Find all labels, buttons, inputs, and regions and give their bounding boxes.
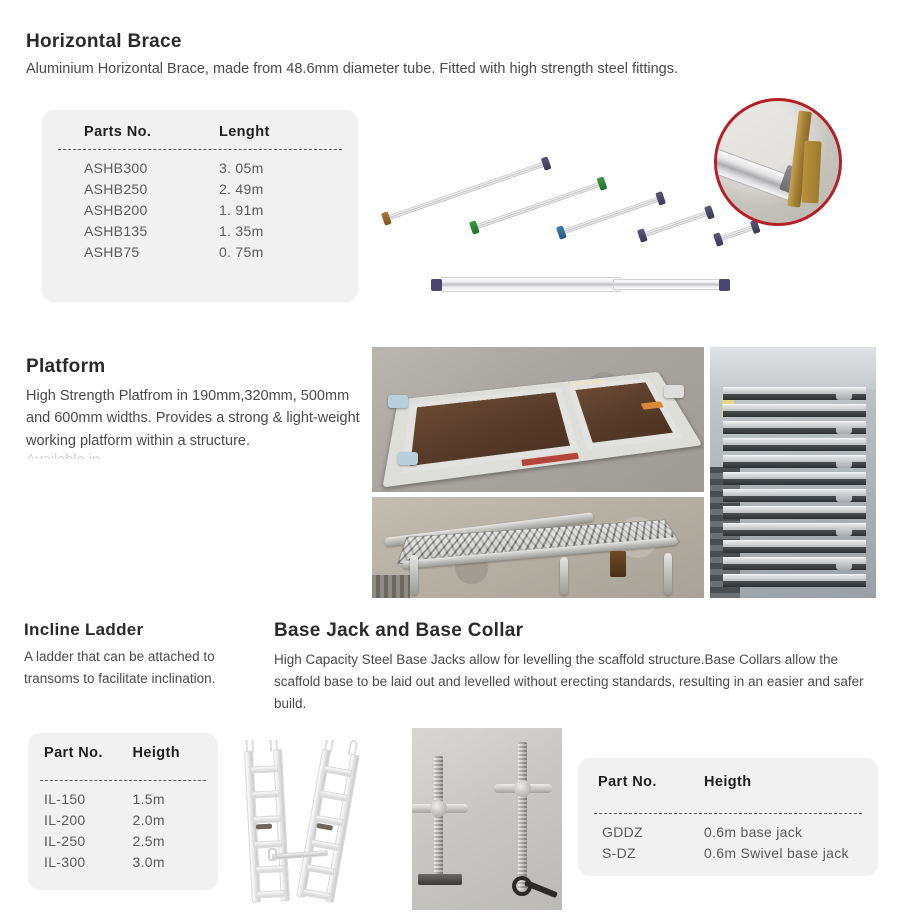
horizontal-brace-table: Parts No. Lenght ASHB300 3. 05m ASHB250 … — [42, 110, 358, 262]
cell-length: 3. 05m — [219, 157, 358, 178]
stacked-platforms-warehouse-photo — [710, 347, 876, 598]
incline-ladder-section: Incline Ladder A ladder that can be atta… — [24, 620, 266, 690]
brace-end-cap — [719, 279, 730, 291]
base-jack-collar — [514, 780, 531, 797]
base-jack-section: Base Jack and Base Collar High Capacity … — [274, 620, 874, 715]
table-divider-row — [578, 794, 878, 821]
cell-height: 2.5m — [133, 830, 219, 851]
platform-hook — [836, 491, 852, 502]
table-row: ASHB200 1. 91m — [42, 199, 358, 220]
dashed-divider — [40, 780, 206, 781]
cell-part-no: IL-200 — [28, 809, 133, 830]
platform-hook — [398, 452, 418, 465]
table-row: ASHB250 2. 49m — [42, 178, 358, 199]
ladder-straight — [242, 749, 292, 903]
brace-end-cap — [597, 176, 608, 191]
base-jack-plate — [418, 874, 462, 885]
plank-leg — [664, 553, 672, 595]
platform-clipped-text: Available in — [26, 452, 366, 459]
column-header-part-no: Part No. — [28, 733, 133, 765]
cell-part-no: ASHB75 — [42, 241, 219, 262]
warehouse-ceiling — [710, 347, 876, 389]
ladder-clamp — [256, 824, 272, 830]
cell-part-no: GDDZ — [578, 821, 704, 842]
horizontal-brace-table-panel: Parts No. Lenght ASHB300 3. 05m ASHB250 … — [42, 110, 358, 302]
aluminium-platform-photo — [372, 347, 704, 492]
cell-part-no: IL-250 — [28, 830, 133, 851]
cell-part-no: S-DZ — [578, 842, 704, 863]
platform-hook — [836, 423, 852, 434]
platform-body: High Strength Platfrom in 190mm,320mm, 5… — [26, 385, 366, 452]
table-header-row: Parts No. Lenght — [42, 110, 358, 144]
plank-leg — [410, 555, 418, 595]
catalog-page: Horizontal Brace Aluminium Horizontal Br… — [0, 0, 921, 917]
ground-grate — [372, 575, 410, 598]
platform-hook — [388, 395, 408, 408]
platform-hook — [664, 385, 684, 398]
brace-tube-2490 — [474, 181, 601, 225]
table-row: IL-300 3.0m — [28, 851, 218, 872]
cell-part-no: ASHB300 — [42, 157, 219, 178]
cell-part-no: ASHB250 — [42, 178, 219, 199]
incline-ladder-table: Part No. Heigth IL-150 1.5m IL-200 2.0m … — [28, 733, 218, 872]
platform-hook — [836, 559, 852, 570]
cell-height: 3.0m — [133, 851, 219, 872]
cell-part-no: ASHB135 — [42, 220, 219, 241]
telescoping-brace-tube — [431, 277, 731, 295]
table-row: ASHB135 1. 35m — [42, 220, 358, 241]
table-divider-row — [42, 144, 358, 157]
table-row: S-DZ 0.6m Swivel base jack — [578, 842, 878, 863]
brace-tube-1910 — [561, 196, 659, 230]
table-row: ASHB300 3. 05m — [42, 157, 358, 178]
table-row: IL-250 2.5m — [28, 830, 218, 851]
base-jack-body: High Capacity Steel Base Jacks allow for… — [274, 649, 874, 715]
cell-length: 1. 35m — [219, 220, 358, 241]
cell-part-no: IL-300 — [28, 851, 133, 872]
brace-tubes-illustration — [378, 96, 878, 308]
ladder-support-hook — [268, 848, 277, 861]
cell-height: 1.5m — [133, 788, 219, 809]
platform-hook — [836, 389, 852, 400]
brace-end-cap — [655, 191, 666, 206]
horizontal-brace-section: Horizontal Brace Aluminium Horizontal Br… — [26, 31, 876, 80]
incline-ladder-body: A ladder that can be attached to transom… — [24, 646, 266, 690]
column-header-part-no: Part No. — [578, 758, 704, 794]
cell-height: 2.0m — [133, 809, 219, 830]
incline-ladder-photo — [228, 740, 403, 910]
table-header-row: Part No. Heigth — [28, 733, 218, 765]
column-header-lenght: Lenght — [219, 110, 358, 144]
column-header-heigth: Heigth — [133, 733, 219, 765]
base-jack-photo — [412, 728, 562, 910]
cell-length: 1. 91m — [219, 199, 358, 220]
base-jack-collar — [430, 800, 447, 817]
brace-end-fitting-closeup — [714, 98, 842, 226]
dashed-divider — [58, 149, 342, 150]
incline-ladder-title: Incline Ladder — [24, 620, 266, 640]
galvanised-steel-plank-photo — [372, 497, 704, 598]
platform-section: Platform High Strength Platfrom in 190mm… — [26, 356, 366, 459]
brace-end-cap — [431, 279, 442, 291]
table-row: GDDZ 0.6m base jack — [578, 821, 878, 842]
base-jack-title: Base Jack and Base Collar — [274, 620, 874, 642]
platform-hook — [836, 525, 852, 536]
table-header-row: Part No. Heigth — [578, 758, 878, 794]
brace-tube-750 — [718, 225, 754, 237]
cell-part-no: ASHB200 — [42, 199, 219, 220]
column-header-heigth: Heigth — [704, 758, 878, 794]
base-jack-table: Part No. Heigth GDDZ 0.6m base jack S-DZ… — [578, 758, 878, 863]
platform-hook — [836, 457, 852, 468]
base-jack-rod — [518, 742, 527, 890]
ladder-inclined — [294, 748, 361, 903]
incline-ladder-table-panel: Part No. Heigth IL-150 1.5m IL-200 2.0m … — [28, 733, 218, 890]
column-header-parts-no: Parts No. — [42, 110, 219, 144]
cell-length: 2. 49m — [219, 178, 358, 199]
base-jack-table-panel: Part No. Heigth GDDZ 0.6m base jack S-DZ… — [578, 758, 878, 876]
brace-tube-1350 — [642, 210, 708, 233]
plank-bracket — [610, 551, 626, 577]
plank-leg — [560, 557, 568, 595]
table-row: IL-200 2.0m — [28, 809, 218, 830]
brace-end-cap — [704, 205, 715, 220]
platform-title: Platform — [26, 356, 366, 378]
dashed-divider — [594, 813, 862, 814]
brace-end-cap — [541, 156, 552, 171]
table-divider-row — [28, 765, 218, 788]
cell-height: 0.6m Swivel base jack — [704, 842, 878, 863]
horizontal-brace-body: Aluminium Horizontal Brace, made from 48… — [26, 58, 876, 80]
cell-height: 0.6m base jack — [704, 821, 878, 842]
table-row: IL-150 1.5m — [28, 788, 218, 809]
cell-length: 0. 75m — [219, 241, 358, 262]
horizontal-brace-title: Horizontal Brace — [26, 31, 876, 53]
cell-part-no: IL-150 — [28, 788, 133, 809]
table-row: ASHB75 0. 75m — [42, 241, 358, 262]
base-jack-rod — [434, 756, 443, 884]
